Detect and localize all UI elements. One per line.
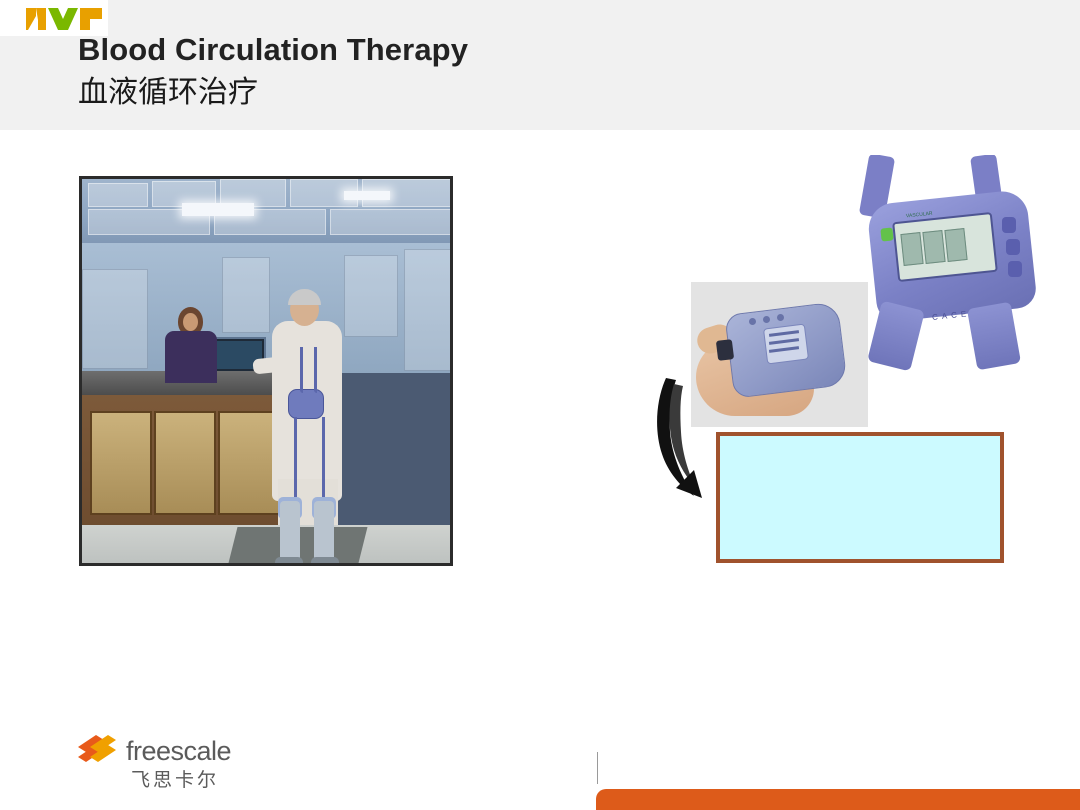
arrow-icon: [654, 374, 710, 504]
slide-title: Blood Circulation Therapy 血液循环治疗: [78, 28, 878, 114]
slide-title-en: Blood Circulation Therapy: [78, 28, 878, 72]
therapy-tube: [314, 347, 317, 393]
nurse-face: [183, 313, 198, 331]
cuff-button[interactable]: [1006, 239, 1020, 255]
portable-device-dot: [763, 316, 770, 323]
cuff-button[interactable]: [1008, 261, 1022, 277]
cuff-screen-segment: [900, 232, 923, 266]
therapy-tube: [294, 417, 297, 503]
cuff-screen-segment: [944, 228, 967, 262]
hospital-photo-scene: [82, 179, 450, 563]
counter-wood-panel: [90, 411, 152, 515]
cuff-connector-left: [867, 301, 925, 372]
counter-wood-panel: [154, 411, 216, 515]
ceiling-tile: [88, 183, 148, 207]
hospital-photo: [79, 176, 453, 566]
nurse-body: [165, 331, 217, 383]
ceiling-tile: [330, 209, 452, 235]
wall-panel: [344, 255, 398, 337]
portable-device-knob: [716, 339, 734, 361]
therapy-device-worn: [288, 389, 324, 419]
therapy-tube: [300, 347, 303, 393]
cuff-screen-segment: [922, 230, 945, 264]
cuff-button[interactable]: [1002, 217, 1016, 233]
footer-accent-bar: [596, 789, 1080, 810]
slide-header-band: Blood Circulation Therapy 血液循环治疗: [0, 0, 1080, 130]
wall-panel: [404, 249, 452, 371]
patient-shoe-left: [275, 557, 303, 566]
patient-shoe-right: [311, 557, 339, 566]
footer-divider: [597, 752, 598, 784]
hand-device-photo: [691, 282, 868, 427]
caption-box: [716, 432, 1004, 563]
cuff-power-indicator: [880, 227, 893, 241]
therapy-tube: [322, 417, 325, 503]
caption-text: [720, 436, 1000, 456]
portable-device-dot: [749, 318, 756, 325]
freescale-logo: freescale 飞思卡尔: [74, 731, 244, 791]
counter-wood-panel: [218, 411, 280, 515]
wall-panel: [82, 269, 148, 369]
cuff-device-photo: CACE VASCULAR: [850, 155, 1062, 375]
wall-panel: [222, 257, 270, 333]
portable-device-dot: [777, 314, 784, 321]
freescale-mark-icon: [74, 731, 124, 775]
cuff-connector-right: [967, 302, 1021, 371]
ceiling-light: [182, 203, 254, 216]
slide-title-zh: 血液循环治疗: [78, 72, 878, 114]
freescale-wordmark: freescale: [126, 736, 231, 767]
ceiling-light: [344, 191, 390, 200]
freescale-wordmark-zh: 飞思卡尔: [131, 765, 219, 792]
